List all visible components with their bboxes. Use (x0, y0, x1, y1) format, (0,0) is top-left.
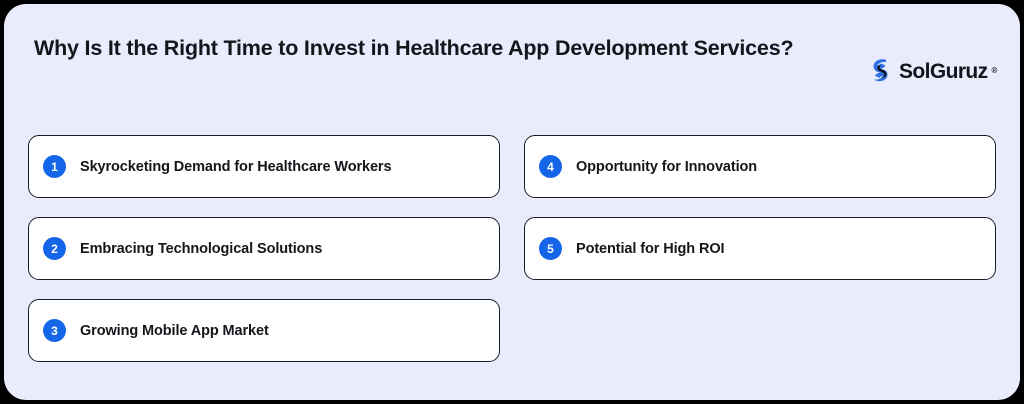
reason-card-5[interactable]: 5 Potential for High ROI (524, 217, 996, 280)
header: Why Is It the Right Time to Invest in He… (4, 4, 1020, 122)
reasons-column-right: 4 Opportunity for Innovation 5 Potential… (524, 135, 996, 280)
reason-number-badge: 5 (539, 237, 562, 260)
brand-logo: SolGuruz ® (866, 54, 997, 88)
reason-number-badge: 1 (43, 155, 66, 178)
reason-number-badge: 2 (43, 237, 66, 260)
reason-card-1[interactable]: 1 Skyrocketing Demand for Healthcare Wor… (28, 135, 500, 198)
reason-label: Embracing Technological Solutions (80, 241, 322, 257)
reason-label: Opportunity for Innovation (576, 159, 757, 175)
reason-label: Skyrocketing Demand for Healthcare Worke… (80, 159, 391, 175)
reason-label: Potential for High ROI (576, 241, 724, 257)
reason-card-2[interactable]: 2 Embracing Technological Solutions (28, 217, 500, 280)
reason-number-badge: 3 (43, 319, 66, 342)
brand-wordmark: SolGuruz (899, 61, 988, 82)
reason-card-3[interactable]: 3 Growing Mobile App Market (28, 299, 500, 362)
reason-label: Growing Mobile App Market (80, 323, 269, 339)
registered-trademark-icon: ® (992, 67, 998, 75)
reason-card-4[interactable]: 4 Opportunity for Innovation (524, 135, 996, 198)
infographic-panel: Why Is It the Right Time to Invest in He… (4, 4, 1020, 400)
reasons-grid: 1 Skyrocketing Demand for Healthcare Wor… (4, 135, 1020, 385)
page-title: Why Is It the Right Time to Invest in He… (34, 28, 824, 68)
reason-number-badge: 4 (539, 155, 562, 178)
reasons-column-left: 1 Skyrocketing Demand for Healthcare Wor… (28, 135, 500, 362)
solguruz-swoosh-icon (866, 56, 896, 86)
